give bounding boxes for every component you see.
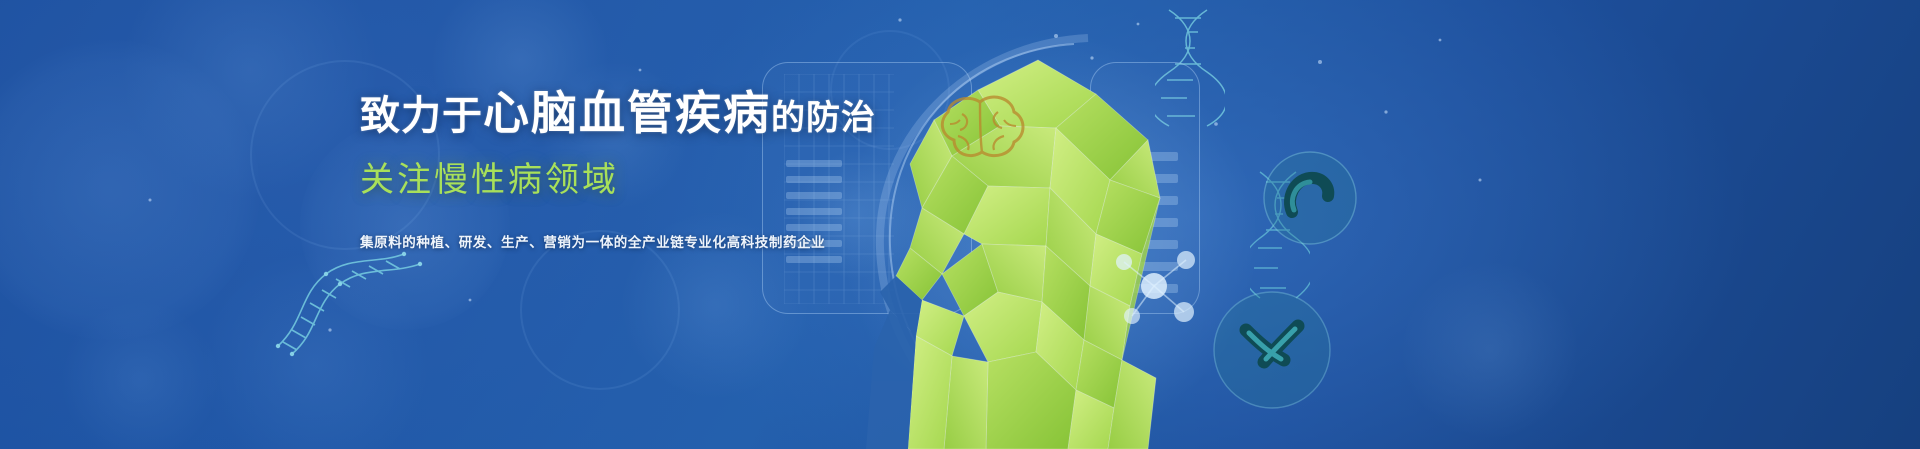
headline-part-2: 心脑血管疾病 (483, 87, 771, 139)
hero-banner: 致力于心脑血管疾病的防治 关注慢性病领域 集原料的种植、研发、生产、营销为一体的… (0, 0, 1920, 449)
cell-icon (1262, 150, 1358, 246)
banner-headline: 致力于心脑血管疾病的防治 (360, 86, 880, 140)
banner-subline: 关注慢性病领域 (360, 152, 880, 201)
banner-copy: 致力于心脑血管疾病的防治 关注慢性病领域 集原料的种植、研发、生产、营销为一体的… (360, 86, 880, 251)
hud-bar (786, 256, 842, 263)
headline-part-3: 的防治 (771, 99, 876, 137)
headline-part-1: 致力于 (360, 94, 483, 138)
molecule-node-cluster-icon (1108, 240, 1200, 332)
cell-icon (1212, 290, 1332, 410)
banner-tagline: 集原料的种植、研发、生产、营销为一体的全产业链专业化高科技制药企业 (360, 231, 880, 251)
